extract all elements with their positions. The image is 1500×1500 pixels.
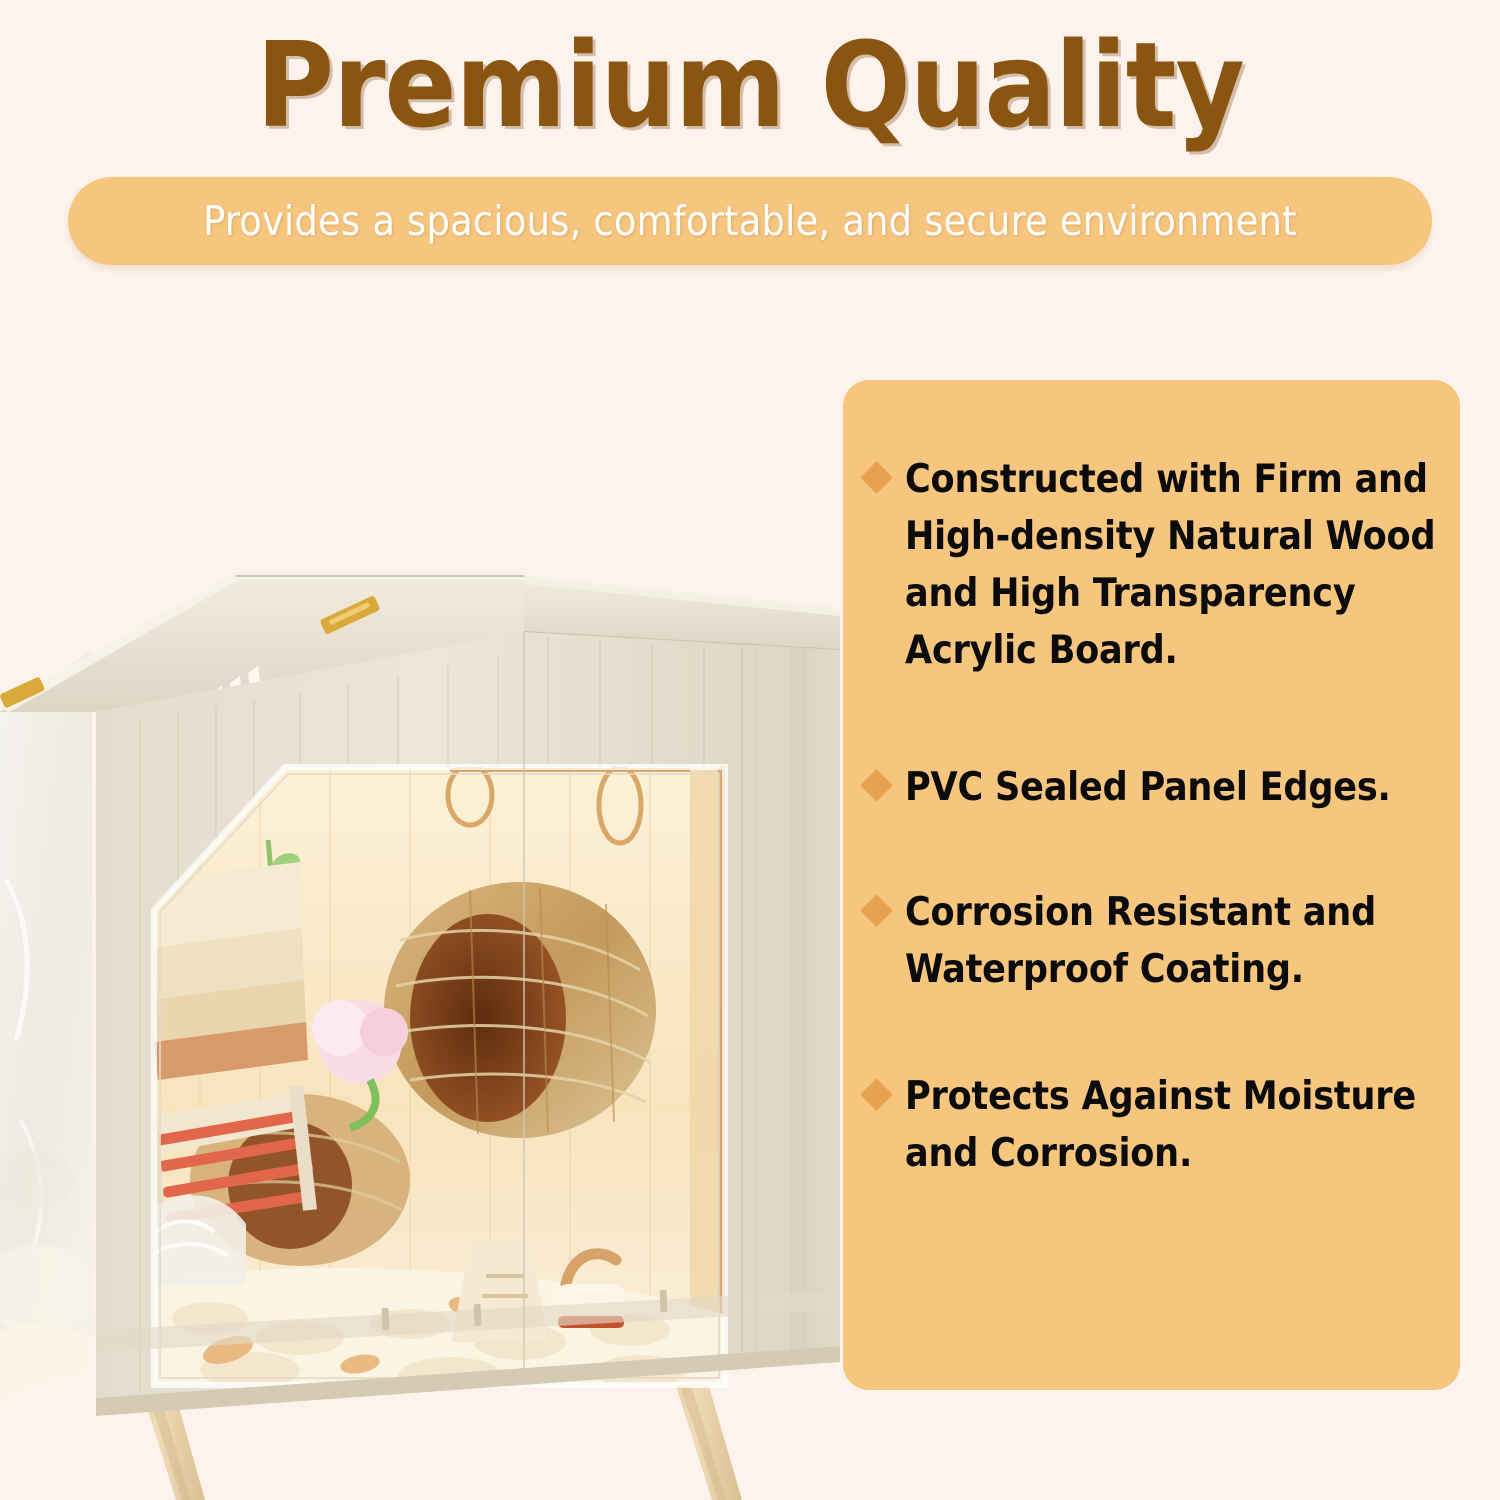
feature-panel: Constructed with Firm and High-density N… [843, 380, 1460, 1390]
feature-bullet-2-text: PVC Sealed Panel Edges. [905, 760, 1391, 817]
feature-bullet-1-text: Constructed with Firm and High-density N… [905, 452, 1438, 680]
acrylic-side-panel [0, 640, 100, 1410]
marketing-image-root: Premium Quality Provides a spacious, com… [0, 0, 1500, 1500]
feature-bullet-1: Constructed with Firm and High-density N… [865, 452, 1438, 680]
diamond-icon [860, 461, 893, 494]
feature-bullet-3: Corrosion Resistant and Waterproof Coati… [865, 885, 1438, 999]
feature-bullet-4: Protects Against Moisture and Corrosion. [865, 1069, 1438, 1183]
subtitle-banner: Provides a spacious, comfortable, and se… [68, 177, 1432, 265]
diamond-icon [860, 894, 893, 927]
diamond-icon [860, 769, 893, 802]
feature-bullet-3-text: Corrosion Resistant and Waterproof Coati… [905, 885, 1438, 999]
product-photo [0, 280, 840, 1500]
feature-bullet-2: PVC Sealed Panel Edges. [865, 760, 1438, 817]
grass-nest [384, 882, 656, 1138]
page-title: Premium Quality [0, 26, 1500, 144]
subtitle-text: Provides a spacious, comfortable, and se… [203, 197, 1297, 245]
feature-bullet-4-text: Protects Against Moisture and Corrosion. [905, 1069, 1438, 1183]
diamond-icon [860, 1078, 893, 1111]
